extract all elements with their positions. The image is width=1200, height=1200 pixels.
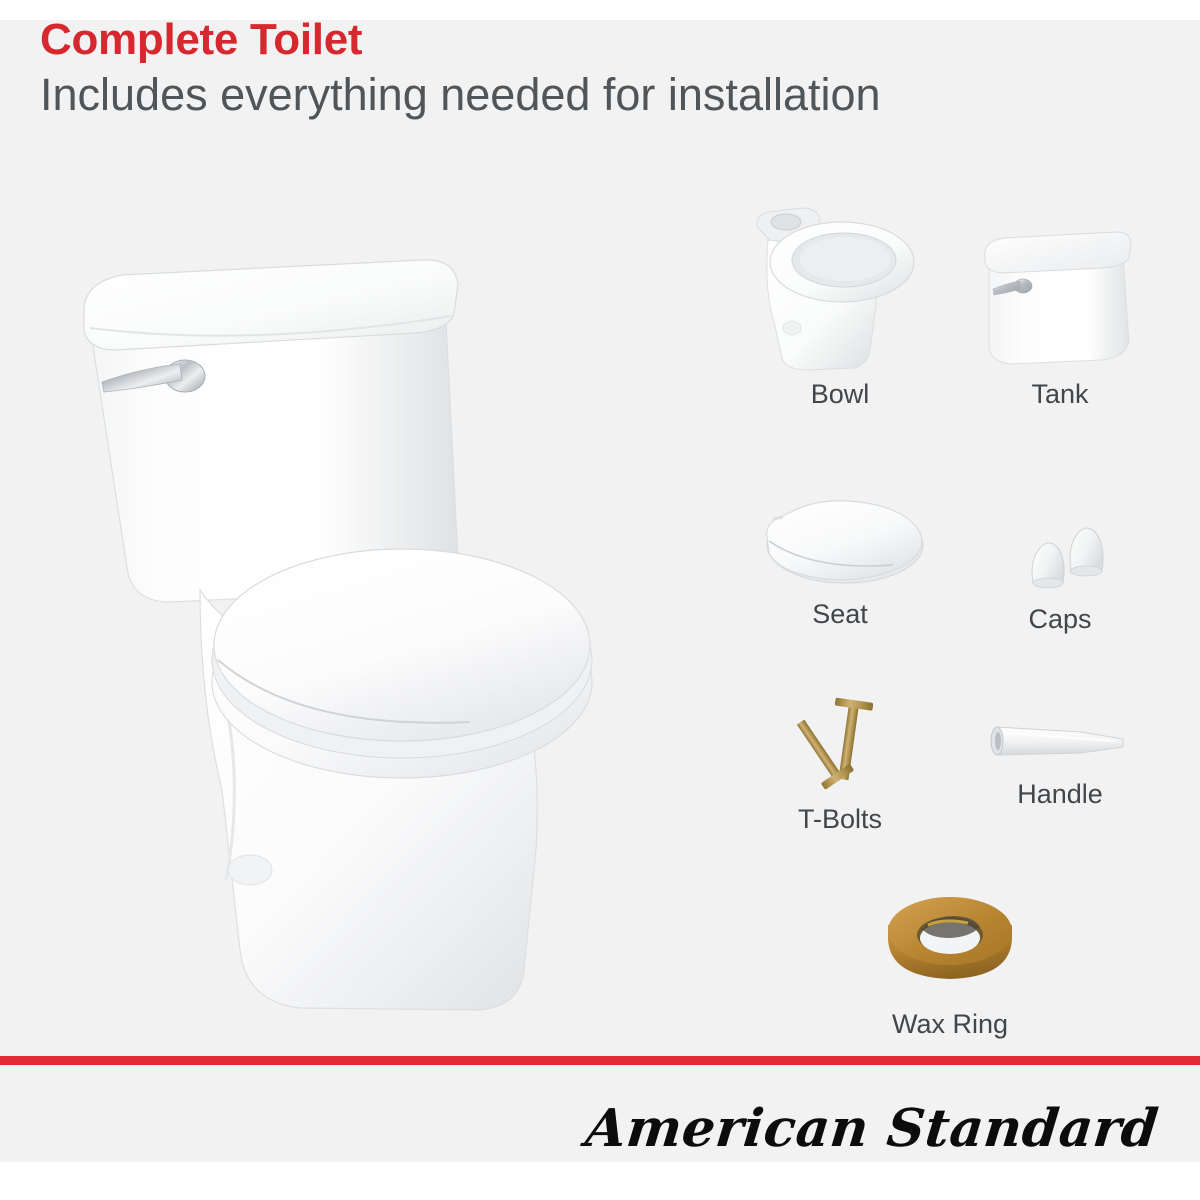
part-label-handle: Handle xyxy=(950,781,1170,808)
part-label-t-bolts: T-Bolts xyxy=(730,806,950,833)
part-tank: Tank xyxy=(950,230,1170,408)
part-label-tank: Tank xyxy=(950,381,1170,408)
flush-handle-icon xyxy=(985,705,1135,775)
part-bowl: Bowl xyxy=(730,200,950,408)
toilet-bowl-icon xyxy=(750,200,930,375)
product-infographic: Complete Toilet Includes everything need… xyxy=(0,0,1200,1200)
brand-logo: American Standard xyxy=(583,1098,1162,1159)
hero-bowl-knob xyxy=(228,855,272,885)
part-label-bowl: Bowl xyxy=(730,381,950,408)
part-handle: Handle xyxy=(950,705,1170,808)
part-label-seat: Seat xyxy=(730,601,950,628)
bolt-caps-icon xyxy=(1005,515,1115,600)
wax-ring-icon xyxy=(870,885,1030,1005)
page-subtitle: Includes everything needed for installat… xyxy=(40,70,1170,120)
part-label-caps: Caps xyxy=(950,606,1170,633)
part-seat: Seat xyxy=(730,485,950,628)
parts-grid: Bowl xyxy=(700,200,1170,1050)
page-title: Complete Toilet xyxy=(40,16,1170,64)
toilet-tank-icon xyxy=(975,230,1145,375)
toilet-seat-icon xyxy=(753,485,928,595)
part-caps: Caps xyxy=(950,515,1170,633)
part-t-bolts: T-Bolts xyxy=(730,690,950,833)
hero-toilet-image xyxy=(50,230,660,1030)
header: Complete Toilet Includes everything need… xyxy=(40,16,1170,120)
hero-seat-lid xyxy=(214,549,590,741)
t-bolts-icon xyxy=(780,690,900,800)
footer-divider xyxy=(0,1056,1200,1065)
part-label-wax-ring: Wax Ring xyxy=(840,1011,1060,1038)
part-wax-ring: Wax Ring xyxy=(840,885,1060,1038)
